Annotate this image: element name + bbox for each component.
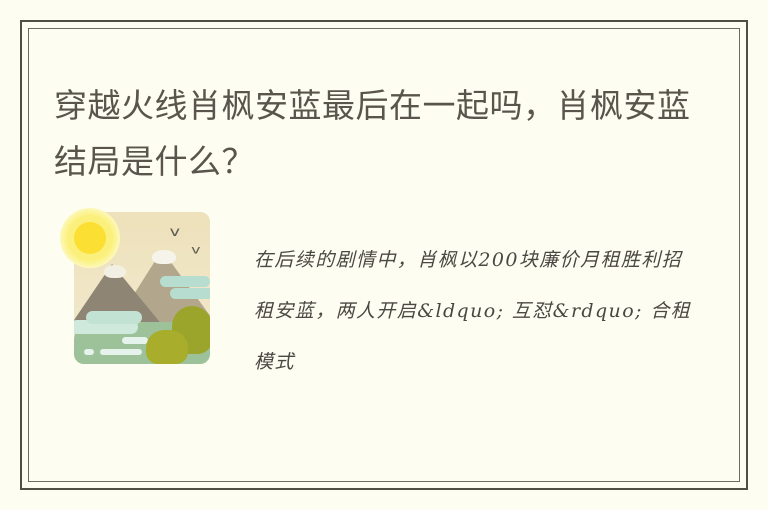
wave-icon	[122, 337, 148, 344]
sun-core	[74, 222, 106, 254]
bird-icon: ᴠ	[170, 226, 180, 239]
cloud-icon	[160, 276, 210, 287]
snow-cap-back-icon	[152, 250, 176, 264]
page-frame: 穿越火线肖枫安蓝最后在一起吗，肖枫安蓝结局是什么？ ᴠ ᴠ	[20, 20, 748, 490]
article-excerpt: 在后续的剧情中，肖枫以200块廉价月租胜利招租安蓝，两人开启&ldquo; 互怼…	[254, 235, 694, 388]
article-thumbnail[interactable]: ᴠ ᴠ	[60, 202, 210, 374]
foreground-cloud-icon	[86, 311, 142, 324]
wave-icon	[100, 349, 142, 355]
sun-icon	[60, 208, 120, 268]
cloud-icon	[170, 288, 210, 299]
wave-icon	[84, 349, 94, 355]
page-title: 穿越火线肖枫安蓝最后在一起吗，肖枫安蓝结局是什么？	[54, 78, 694, 190]
bird-icon: ᴠ	[191, 245, 200, 257]
article-summary-block: ᴠ ᴠ 在后续的剧情中，肖枫以200块廉价月租胜利招租安蓝，两人开启&ldquo…	[54, 202, 704, 378]
bush-icon	[146, 330, 188, 364]
